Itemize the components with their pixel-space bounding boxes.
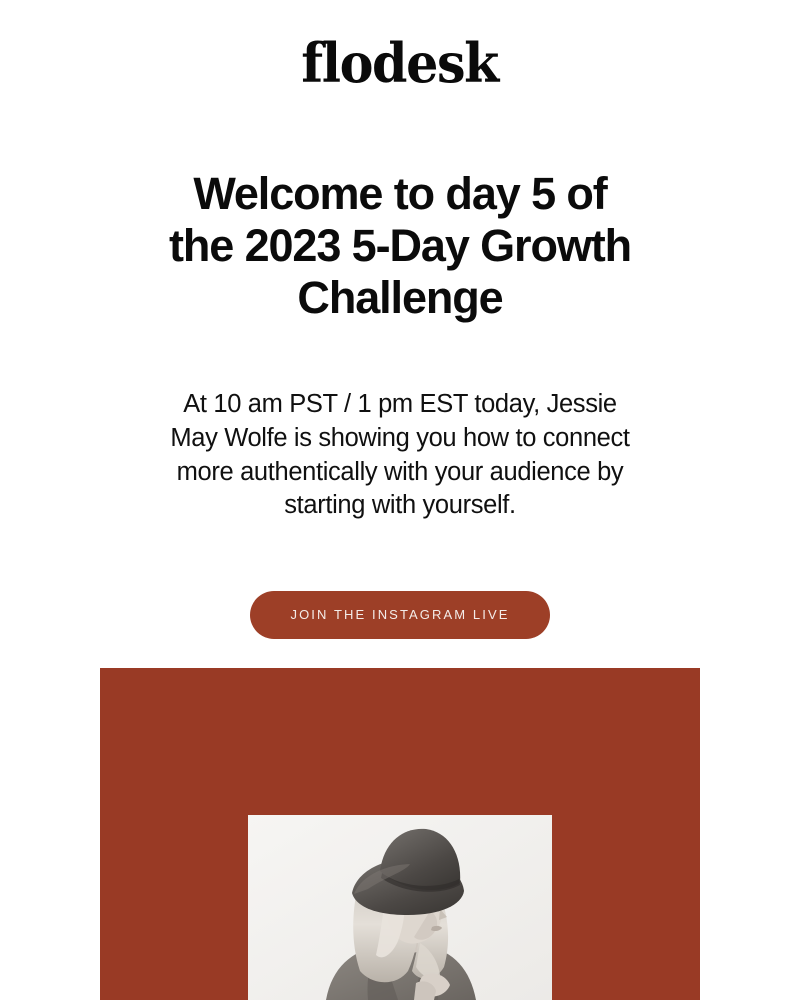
hero-photo	[248, 815, 552, 1000]
email-body: flodesk Welcome to day 5 of the 2023 5-D…	[0, 0, 800, 1000]
hero-color-block	[100, 668, 700, 1000]
portrait-illustration	[248, 815, 552, 1000]
cta-container: JOIN THE INSTAGRAM LIVE	[250, 591, 550, 639]
brand-header: flodesk	[0, 36, 800, 90]
join-instagram-live-button[interactable]: JOIN THE INSTAGRAM LIVE	[250, 591, 550, 639]
page-title: Welcome to day 5 of the 2023 5-Day Growt…	[160, 168, 640, 325]
flodesk-logo[interactable]: flodesk	[302, 36, 499, 90]
body-paragraph: At 10 am PST / 1 pm EST today, Jessie Ma…	[165, 388, 635, 524]
